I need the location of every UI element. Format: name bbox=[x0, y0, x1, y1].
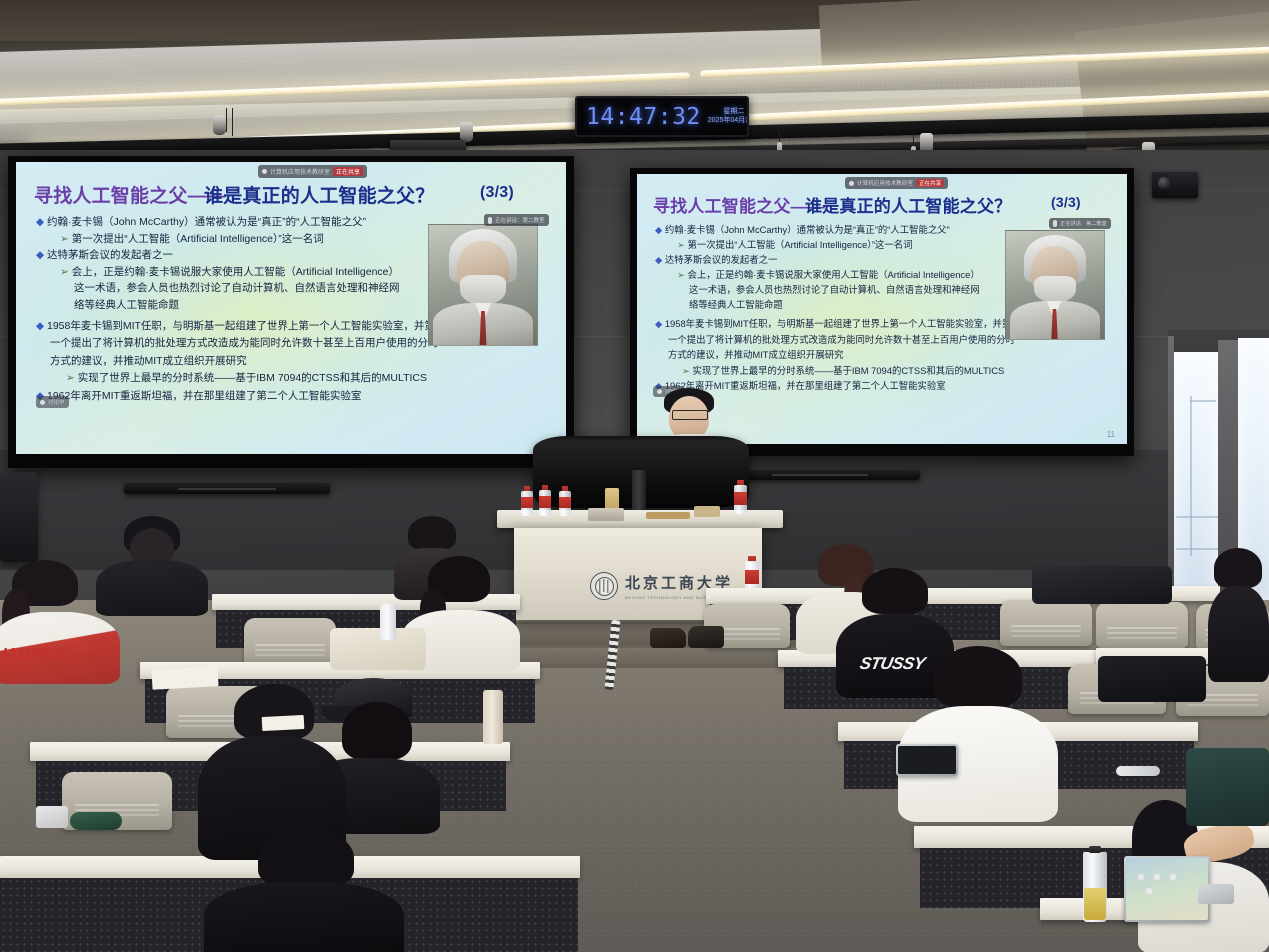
share-status-chip[interactable]: 计算机应用技术教研室 正在共享 bbox=[845, 177, 948, 189]
chair bbox=[1000, 600, 1092, 646]
slide-bullet: 方式的建议，并推动MIT成立组织开展研究 bbox=[36, 353, 556, 370]
lecturer-glasses bbox=[672, 410, 708, 420]
ceiling-spotlight bbox=[460, 122, 473, 142]
backpack bbox=[1186, 748, 1269, 826]
slide-bullet: ➢ 第一次提出“人工智能（Artificial Intelligence）”这一… bbox=[36, 231, 466, 248]
left-display-frame: 寻找人工智能之父—— 谁是真正的人工智能之父？ (3/3) ◆ 约翰·麦卡锡（J… bbox=[8, 156, 574, 468]
sharing-badge: 正在共享 bbox=[333, 167, 363, 176]
slide-page-indicator: (3/3) bbox=[1051, 194, 1081, 210]
slide-bullet: ◆ 1962年离开MIT重返斯坦福，并在那里组建了第二个人工智能实验室 bbox=[36, 388, 556, 405]
slide-bullet: ◆ 约翰·麦卡锡（John McCarthy）通常被认为是“真正”的“人工智能之… bbox=[655, 222, 1045, 237]
slide-page-number: 11 bbox=[1107, 430, 1115, 439]
slide-bullet: ➢ 会上，正是约翰·麦卡锡说服大家使用人工智能（Artificial Intel… bbox=[655, 267, 1045, 282]
speaker-status-chip[interactable]: 正在讲话：第二教室 bbox=[484, 214, 549, 226]
hoodie-brand-text: CHAMPION bbox=[0, 646, 68, 664]
slide-bullet: 这一术语，参会人员也热烈讨论了自动计算机、自然语言处理和神经网 bbox=[655, 282, 1045, 297]
university-seal-icon bbox=[590, 572, 618, 600]
student bbox=[204, 828, 404, 952]
desk-object bbox=[694, 506, 720, 517]
discussion-chip[interactable]: 讨论中 bbox=[36, 396, 69, 408]
water-bottle bbox=[559, 486, 571, 516]
ceiling-spotlight bbox=[213, 115, 226, 135]
slide-title-part2: 谁是真正的人工智能之父？ bbox=[204, 181, 434, 208]
tea-bottle bbox=[1083, 846, 1107, 922]
tablet-device[interactable] bbox=[896, 744, 958, 776]
slide-bullet: 络等经典人工智能命题 bbox=[655, 297, 1045, 312]
mccarthy-portrait bbox=[1005, 230, 1105, 340]
smartphone[interactable] bbox=[1198, 884, 1234, 904]
shoe bbox=[688, 626, 724, 648]
desk-object bbox=[588, 508, 624, 521]
slide-bullet: 方式的建议，并推动MIT成立组织开展研究 bbox=[655, 347, 1125, 363]
slide-title-part2: 谁是真正的人工智能之父？ bbox=[805, 192, 1011, 217]
clock-time: 14:47:32 bbox=[586, 104, 701, 130]
slide-bullet: ➢ 会上，正是约翰·麦卡锡说服大家使用人工智能（Artificial Intel… bbox=[36, 264, 466, 281]
tote-bag bbox=[330, 628, 426, 670]
water-bottle bbox=[734, 480, 747, 514]
wall-clock-display: 14:47:32 星期二 2025年04月16日 bbox=[575, 96, 749, 137]
pencil-case bbox=[70, 812, 122, 830]
slide-bullet: ➢ 第一次提出“人工智能（Artificial Intelligence）”这一… bbox=[655, 237, 1045, 252]
share-status-chip[interactable]: 计算机应用技术教研室 正在共享 bbox=[258, 165, 367, 178]
slide-page-indicator: (3/3) bbox=[480, 184, 514, 202]
right-soundbar bbox=[720, 470, 920, 480]
share-dot-icon bbox=[849, 181, 854, 186]
shoe bbox=[650, 628, 686, 648]
slide-bullet: 这一术语，参会人员也热烈讨论了自动计算机、自然语言处理和神经网 bbox=[36, 280, 466, 297]
slide-bullet: ◆ 达特茅斯会议的发起者之一 bbox=[36, 247, 466, 264]
status-dot-icon bbox=[40, 400, 45, 405]
lecture-hall-photo: 14:47:32 星期二 2025年04月16日 寻找人工智能之父—— 谁是真正… bbox=[0, 0, 1269, 952]
slide-title-part1: 寻找人工智能之父—— bbox=[653, 192, 825, 217]
slide-bullet: ➢ 实现了世界上最早的分时系统——基于IBM 7094的CTSS和其后的MULT… bbox=[655, 363, 1125, 379]
student: CHAMPION bbox=[0, 560, 120, 680]
smartphone[interactable] bbox=[36, 806, 68, 828]
notebook bbox=[152, 666, 219, 689]
share-dot-icon bbox=[262, 169, 267, 174]
side-equipment-rack bbox=[0, 472, 38, 562]
slide-bullet: ➢ 实现了世界上最早的分时系统——基于IBM 7094的CTSS和其后的MULT… bbox=[36, 370, 556, 387]
chair bbox=[244, 618, 336, 666]
tumbler bbox=[380, 604, 396, 640]
slide-title-part1: 寻找人工智能之父—— bbox=[34, 181, 226, 208]
water-bottle bbox=[539, 485, 551, 516]
wall-camera bbox=[1152, 172, 1198, 198]
sharing-badge: 正在共享 bbox=[916, 179, 944, 187]
eyeglasses bbox=[1116, 766, 1160, 776]
backpack bbox=[1032, 566, 1172, 604]
presentation-slide-left: 寻找人工智能之父—— 谁是真正的人工智能之父？ (3/3) ◆ 约翰·麦卡锡（J… bbox=[16, 162, 566, 454]
student bbox=[1208, 548, 1269, 678]
clock-date: 2025年04月16日 bbox=[708, 117, 749, 125]
microphone-icon bbox=[1053, 220, 1057, 227]
tumbler bbox=[483, 690, 503, 744]
microphone-icon bbox=[488, 217, 492, 224]
speaker-status-chip[interactable]: 正在讲话：第二教室 bbox=[1049, 218, 1111, 229]
clock-weekday: 星期二 bbox=[708, 108, 749, 116]
slide-bullet: ◆ 达特茅斯会议的发起者之一 bbox=[655, 252, 1045, 267]
left-display-screen[interactable]: 寻找人工智能之父—— 谁是真正的人工智能之父？ (3/3) ◆ 约翰·麦卡锡（J… bbox=[16, 162, 566, 454]
backpack bbox=[1098, 656, 1206, 702]
slide-bullet: 络等经典人工智能命题 bbox=[36, 297, 466, 314]
water-bottle bbox=[521, 486, 533, 516]
notebook bbox=[262, 715, 305, 731]
slide-bullet: ◆ 约翰·麦卡锡（John McCarthy）通常被认为是“真正”的“人工智能之… bbox=[36, 214, 466, 231]
chair bbox=[1096, 602, 1188, 648]
left-soundbar bbox=[124, 483, 330, 494]
student bbox=[898, 646, 1058, 816]
ceiling bbox=[0, 0, 1269, 172]
desk-object bbox=[646, 512, 690, 519]
mccarthy-portrait bbox=[428, 224, 538, 346]
